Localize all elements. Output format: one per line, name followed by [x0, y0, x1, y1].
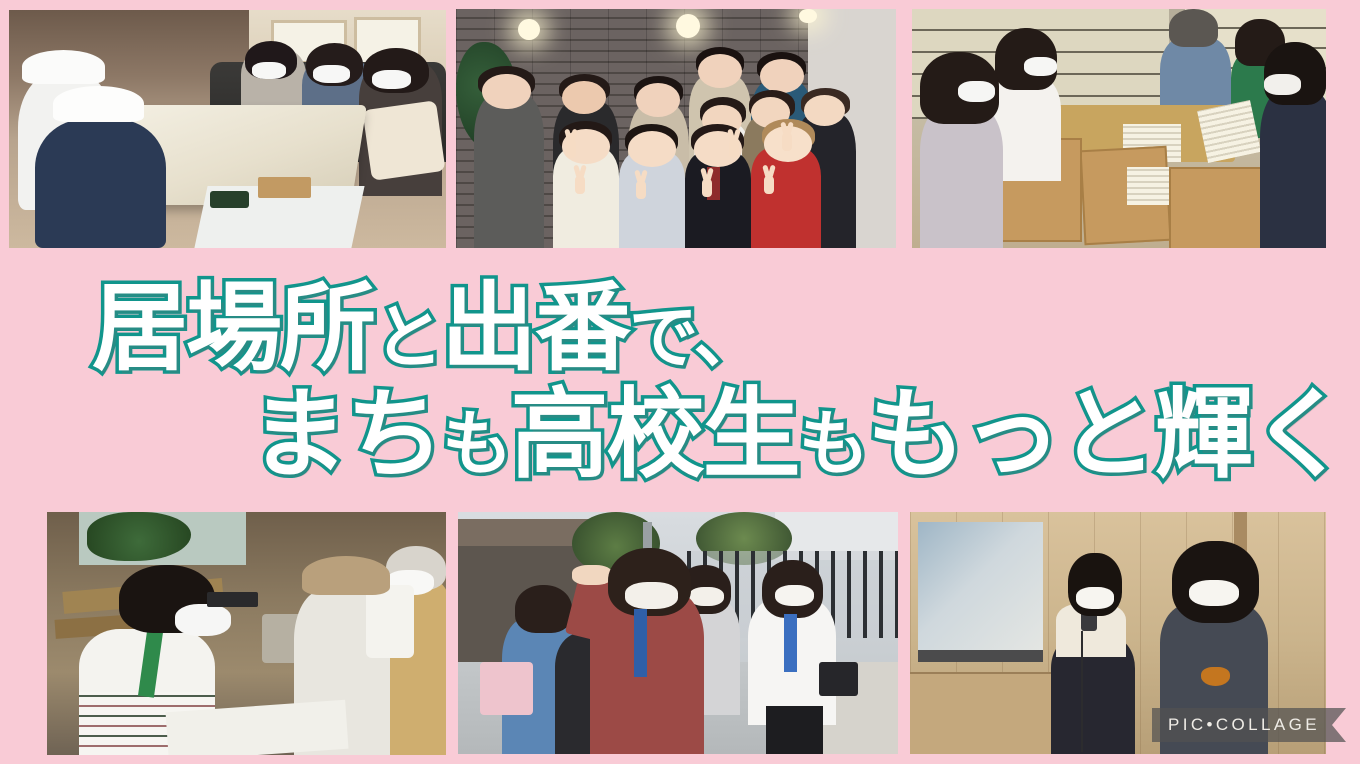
headline-seg-motto: もっと	[867, 378, 1155, 492]
photo-top-center: Group photo of about twelve high-school …	[456, 9, 896, 248]
peace-sign-hand	[702, 179, 712, 197]
peace-sign-hand	[782, 133, 792, 151]
person-hair	[515, 585, 572, 633]
headline-seg-mo-2: も	[799, 403, 868, 485]
shoulder-bag	[819, 662, 859, 696]
hanging-bulb	[799, 9, 817, 23]
shoulder-bag	[363, 100, 446, 181]
sun-hat	[302, 556, 390, 595]
face-mask	[958, 81, 995, 103]
headline-line-2: まちも高校生ももっと輝く	[250, 386, 1347, 486]
face-mask	[313, 65, 350, 83]
face-mask	[1024, 57, 1057, 76]
person-head	[628, 131, 676, 167]
person-head	[636, 83, 680, 116]
headline-seg-deban: 出番	[441, 272, 629, 384]
headline-seg-to: と	[374, 298, 441, 378]
photo-bottom-center: Four masked students standing on a stree…	[458, 512, 898, 754]
microphone-cord	[1081, 631, 1083, 752]
headline-seg-machi: まち	[250, 378, 442, 492]
peace-sign-hand	[764, 176, 774, 194]
person-head	[760, 59, 804, 92]
headline-block: 居場所と出番で、 まちも高校生ももっと輝く	[0, 258, 1360, 508]
headline-seg-koukousei: 高校生	[511, 378, 799, 492]
photo-top-left: Students and adults in masks seated arou…	[9, 10, 446, 248]
headline-seg-iba-sho: 居場所	[92, 272, 374, 384]
face-mask	[175, 604, 231, 636]
face-mask	[1189, 580, 1239, 607]
person-legs	[766, 706, 823, 754]
photo-bottom-left: A masked student with a green lanyard wo…	[47, 512, 446, 755]
pic-collage-watermark: PIC•COLLAGE	[1152, 708, 1346, 742]
headline-seg-kagayaku: 輝く	[1155, 378, 1347, 492]
person-head	[482, 74, 530, 110]
face-mask	[775, 585, 815, 607]
face-mask	[372, 70, 411, 89]
projection-screen	[918, 522, 1043, 653]
peace-sign-hand	[566, 140, 576, 158]
peace-sign-hand	[636, 181, 646, 199]
blue-lanyard	[634, 609, 647, 677]
headline-seg-mo-1: も	[442, 403, 511, 485]
photo-collage-poster: Students and adults in masks seated arou…	[0, 0, 1360, 764]
face-mask	[1264, 74, 1301, 96]
handbag	[480, 662, 533, 715]
raised-fist	[572, 565, 612, 584]
screen-frame	[918, 650, 1043, 662]
neck-towel	[366, 585, 414, 658]
person-adult-mentor	[474, 95, 544, 248]
peace-sign-hand	[575, 176, 585, 194]
white-cap	[22, 50, 105, 83]
person-head	[698, 54, 742, 87]
cabinet	[910, 672, 1060, 754]
person-head	[562, 81, 606, 114]
face-mask	[1076, 587, 1113, 609]
person-head	[804, 95, 846, 126]
face-mask	[625, 582, 678, 609]
photo-top-right: Masked students packing books and papers…	[912, 9, 1326, 248]
headline-seg-de: で、	[629, 298, 760, 378]
cardboard-box	[1169, 167, 1264, 248]
hanging-bulb	[518, 19, 540, 41]
person-back-view	[35, 119, 166, 248]
headline-line-1: 居場所と出番で、	[92, 280, 761, 378]
eyeglasses	[207, 592, 259, 607]
face-mask	[252, 62, 287, 79]
tablet-device	[210, 191, 249, 208]
hanging-bulb	[676, 14, 700, 38]
watermark-label: PIC•COLLAGE	[1168, 715, 1320, 735]
paper-stack	[1197, 100, 1261, 163]
person-hair	[1169, 9, 1219, 47]
person-student	[751, 148, 821, 248]
person-student	[1260, 90, 1326, 248]
person-student	[619, 152, 685, 248]
wooden-box	[258, 177, 310, 198]
blue-lanyard	[784, 614, 797, 672]
white-cap	[53, 86, 145, 122]
person-student	[920, 105, 1003, 248]
peace-sign-hand	[729, 140, 739, 158]
